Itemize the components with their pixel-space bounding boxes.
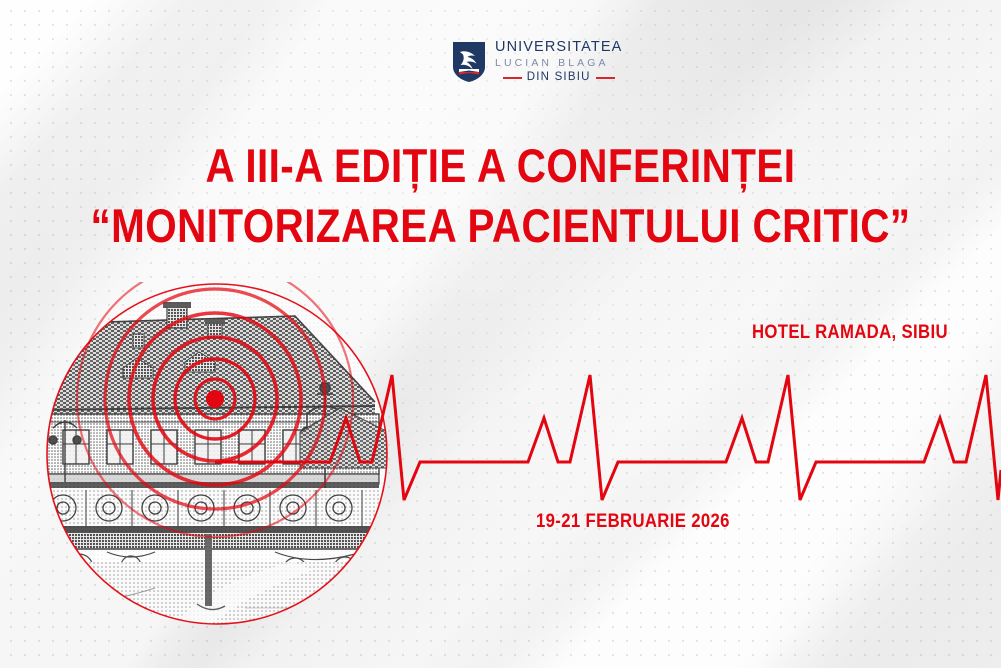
signal-origin-dot <box>206 390 224 408</box>
bridge-of-lies-illustration <box>45 282 389 626</box>
logo-line-lucian-blaga: LUCIAN BLAGA <box>495 58 622 69</box>
logo-wordmark: UNIVERSITATEA LUCIAN BLAGA DIN SIBIU <box>495 40 622 84</box>
shield-icon <box>452 41 486 83</box>
university-logo: UNIVERSITATEA LUCIAN BLAGA DIN SIBIU <box>452 40 622 84</box>
conference-poster: UNIVERSITATEA LUCIAN BLAGA DIN SIBIU A I… <box>0 0 1001 668</box>
venue-label: HOTEL RAMADA, SIBIU <box>752 322 948 344</box>
headline-line-2: “MONITORIZAREA PACIENTULUI CRITIC” <box>70 200 931 252</box>
date-label: 19-21 FEBRUARIE 2026 <box>536 511 730 533</box>
headline-line-1: A III-A EDIȚIE A CONFERINȚEI <box>70 140 931 192</box>
logo-rule-right <box>596 77 615 79</box>
logo-line-universitatea: UNIVERSITATEA <box>495 40 622 55</box>
logo-line-din-sibiu-row: DIN SIBIU <box>495 72 622 84</box>
logo-line-din-sibiu: DIN SIBIU <box>527 72 591 84</box>
logo-rule-left <box>503 77 522 79</box>
